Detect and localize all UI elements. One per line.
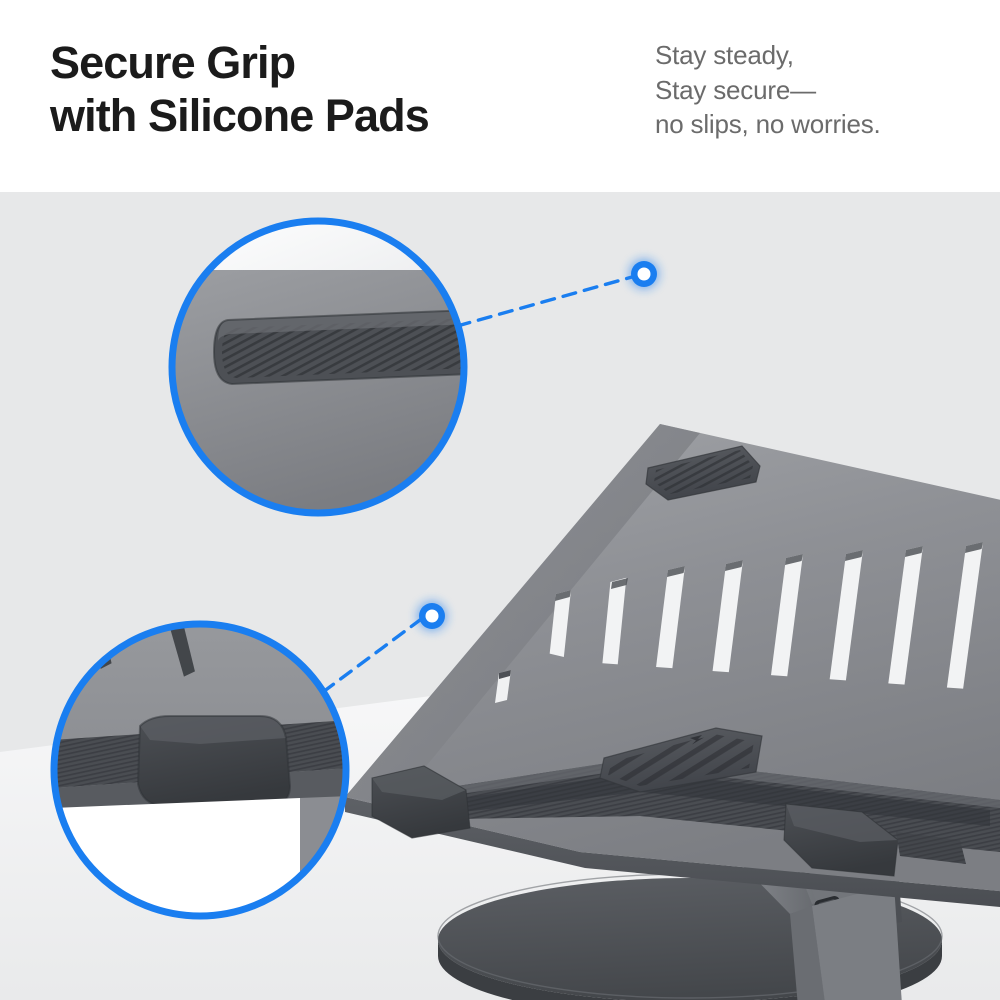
product-illustration	[0, 192, 1000, 1000]
header-banner: Secure Grip with Silicone Pads Stay stea…	[0, 0, 1000, 192]
page-title: Secure Grip with Silicone Pads	[50, 36, 429, 142]
product-photo-scene	[0, 192, 1000, 1000]
subtitle-text: Stay steady, Stay secure— no slips, no w…	[655, 38, 881, 142]
marker-dot-top[interactable]	[629, 259, 659, 289]
magnified-front-bumper	[138, 716, 290, 806]
magnified-silicone-pad	[214, 310, 470, 384]
product-feature-image: Secure Grip with Silicone Pads Stay stea…	[0, 0, 1000, 1000]
marker-dot-bottom[interactable]	[417, 601, 447, 631]
